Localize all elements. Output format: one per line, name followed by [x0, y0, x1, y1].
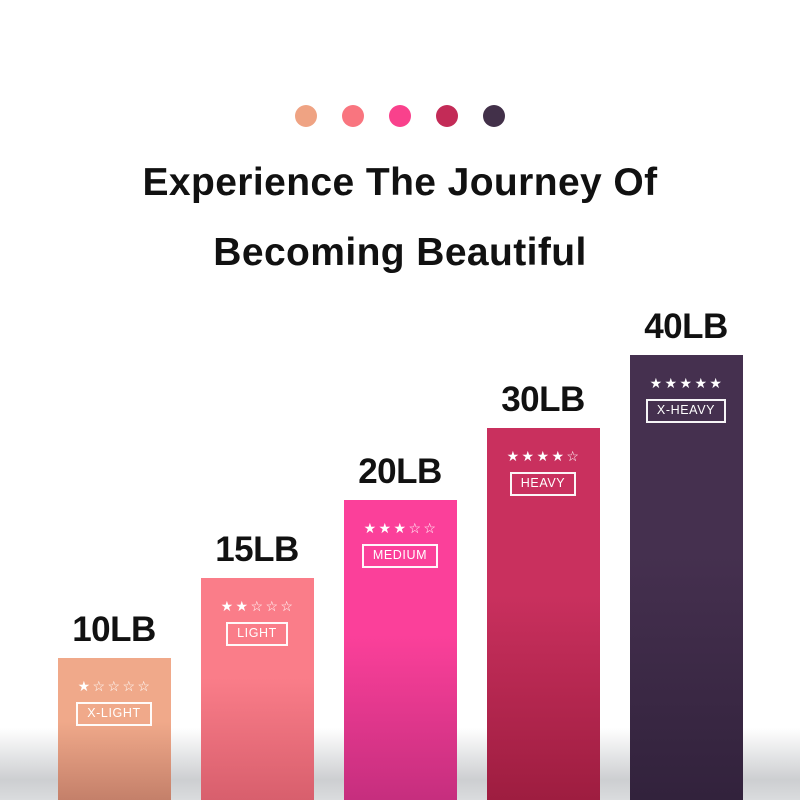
bar-30lb[interactable]: ★★★★☆ HEAVY	[487, 428, 600, 800]
bar-weight-label-40lb: 40LB	[644, 309, 728, 344]
star-rating-40lb: ★★★★★	[648, 376, 725, 390]
title-line-1: Experience The Journey Of	[0, 148, 800, 218]
swatch-dot-5	[483, 105, 505, 127]
bar-weight-label-15lb: 15LB	[215, 532, 299, 567]
tag-badge-20lb: MEDIUM	[362, 544, 438, 568]
page-title: Experience The Journey Of Becoming Beaut…	[0, 148, 800, 288]
tag-badge-40lb: X-HEAVY	[646, 399, 726, 423]
bar-column-20lb[interactable]: 20LB ★★★☆☆ MEDIUM	[344, 454, 457, 800]
star-rating-15lb: ★★☆☆☆	[219, 599, 296, 613]
star-rating-30lb: ★★★★☆	[505, 449, 582, 463]
bar-weight-label-10lb: 10LB	[72, 612, 156, 647]
bar-column-30lb[interactable]: 30LB ★★★★☆ HEAVY	[487, 382, 600, 800]
title-line-2: Becoming Beautiful	[0, 218, 800, 288]
swatch-dot-4	[436, 105, 458, 127]
tag-badge-30lb: HEAVY	[510, 472, 576, 496]
bar-column-40lb[interactable]: 40LB ★★★★★ X-HEAVY	[630, 309, 743, 800]
bar-weight-label-30lb: 30LB	[501, 382, 585, 417]
bar-column-15lb[interactable]: 15LB ★★☆☆☆ LIGHT	[201, 532, 314, 800]
bar-15lb[interactable]: ★★☆☆☆ LIGHT	[201, 578, 314, 800]
tag-badge-15lb: LIGHT	[226, 622, 288, 646]
bar-10lb[interactable]: ★☆☆☆☆ X-LIGHT	[58, 658, 171, 800]
swatch-dot-1	[295, 105, 317, 127]
bar-weight-label-20lb: 20LB	[358, 454, 442, 489]
tag-badge-10lb: X-LIGHT	[76, 702, 152, 726]
color-swatch-row	[0, 105, 800, 127]
bar-40lb[interactable]: ★★★★★ X-HEAVY	[630, 355, 743, 800]
swatch-dot-2	[342, 105, 364, 127]
star-rating-20lb: ★★★☆☆	[362, 521, 439, 535]
resistance-bar-chart: 10LB ★☆☆☆☆ X-LIGHT 15LB ★★☆☆☆ LIGHT 20LB…	[0, 280, 800, 800]
swatch-dot-3	[389, 105, 411, 127]
star-rating-10lb: ★☆☆☆☆	[76, 679, 153, 693]
poster-canvas: Experience The Journey Of Becoming Beaut…	[0, 0, 800, 800]
bar-column-10lb[interactable]: 10LB ★☆☆☆☆ X-LIGHT	[58, 612, 171, 800]
bar-20lb[interactable]: ★★★☆☆ MEDIUM	[344, 500, 457, 800]
